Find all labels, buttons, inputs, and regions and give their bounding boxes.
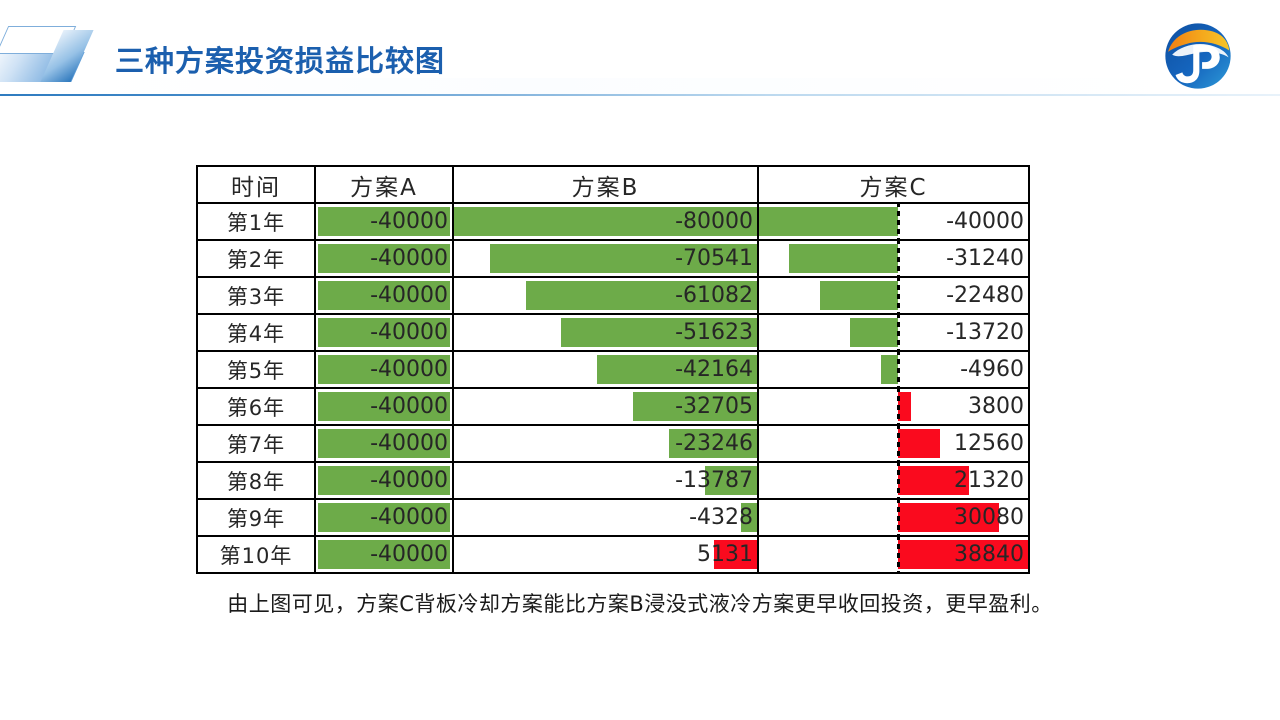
zero-axis-line bbox=[897, 350, 900, 389]
header-divider bbox=[0, 94, 1280, 96]
table-row: 第10年-40000513138840 bbox=[197, 536, 1029, 573]
cell-value-plan-c: -4960 bbox=[898, 352, 1028, 387]
cell-plan-b: -32705 bbox=[453, 388, 758, 425]
zero-axis-line bbox=[897, 239, 900, 278]
zero-axis-line bbox=[897, 535, 900, 574]
cell-value-plan-c: 12560 bbox=[898, 426, 1028, 461]
cell-value-plan-a: -40000 bbox=[316, 500, 452, 535]
slide-header: 三种方案投资损益比较图 bbox=[0, 0, 1280, 98]
cell-value-plan-b: -80000 bbox=[454, 204, 757, 239]
cell-value-plan-a: -40000 bbox=[316, 241, 452, 276]
column-header-time: 时间 bbox=[197, 166, 315, 203]
company-logo-icon bbox=[1164, 22, 1232, 90]
cell-plan-a: -40000 bbox=[315, 203, 453, 240]
cell-value-plan-c: -40000 bbox=[898, 204, 1028, 239]
zero-axis-line bbox=[897, 276, 900, 315]
cell-value-plan-b: -23246 bbox=[454, 426, 757, 461]
cell-value-plan-b: 5131 bbox=[454, 537, 757, 572]
cell-value-plan-a: -40000 bbox=[316, 537, 452, 572]
cell-plan-a: -40000 bbox=[315, 499, 453, 536]
cell-plan-c-value: -13720 bbox=[898, 314, 1029, 351]
table-row: 第3年-40000-61082-22480 bbox=[197, 277, 1029, 314]
cell-plan-a: -40000 bbox=[315, 240, 453, 277]
cell-plan-a: -40000 bbox=[315, 351, 453, 388]
row-label-time: 第10年 bbox=[197, 536, 315, 573]
cell-value-plan-a: -40000 bbox=[316, 426, 452, 461]
table-row: 第9年-40000-432830080 bbox=[197, 499, 1029, 536]
row-label-time: 第2年 bbox=[197, 240, 315, 277]
cell-value-plan-b: -70541 bbox=[454, 241, 757, 276]
cell-value-plan-b: -51623 bbox=[454, 315, 757, 350]
cell-plan-c-value: 12560 bbox=[898, 425, 1029, 462]
zero-axis-line bbox=[897, 387, 900, 426]
cell-plan-c-bar bbox=[758, 388, 898, 425]
cell-plan-c-value: -31240 bbox=[898, 240, 1029, 277]
cell-plan-b: -70541 bbox=[453, 240, 758, 277]
cell-plan-c-value: 3800 bbox=[898, 388, 1029, 425]
column-header-plan-a: 方案A bbox=[315, 166, 453, 203]
cell-value-plan-c: -22480 bbox=[898, 278, 1028, 313]
cell-value-plan-a: -40000 bbox=[316, 204, 452, 239]
cell-value-plan-c: -13720 bbox=[898, 315, 1028, 350]
cell-plan-c-value: -4960 bbox=[898, 351, 1029, 388]
cell-value-plan-c: 3800 bbox=[898, 389, 1028, 424]
row-label-time: 第9年 bbox=[197, 499, 315, 536]
table-header-row: 时间 方案A 方案B 方案C bbox=[197, 166, 1029, 203]
cell-plan-c-bar bbox=[758, 425, 898, 462]
cell-plan-a: -40000 bbox=[315, 536, 453, 573]
cell-plan-b: 5131 bbox=[453, 536, 758, 573]
cell-plan-c-bar bbox=[758, 499, 898, 536]
table-row: 第1年-40000-80000-40000 bbox=[197, 203, 1029, 240]
cell-plan-c-bar bbox=[758, 351, 898, 388]
table-row: 第5年-40000-42164-4960 bbox=[197, 351, 1029, 388]
table-row: 第8年-40000-1378721320 bbox=[197, 462, 1029, 499]
cell-value-plan-c: 21320 bbox=[898, 463, 1028, 498]
cell-plan-c-value: -40000 bbox=[898, 203, 1029, 240]
cell-plan-c-value: 38840 bbox=[898, 536, 1029, 573]
row-label-time: 第7年 bbox=[197, 425, 315, 462]
cell-plan-c-bar bbox=[758, 240, 898, 277]
cell-value-plan-b: -61082 bbox=[454, 278, 757, 313]
cell-value-plan-a: -40000 bbox=[316, 389, 452, 424]
cell-value-plan-b: -13787 bbox=[454, 463, 757, 498]
cell-value-plan-a: -40000 bbox=[316, 315, 452, 350]
cell-value-plan-a: -40000 bbox=[316, 463, 452, 498]
cell-plan-c-value: -22480 bbox=[898, 277, 1029, 314]
cell-value-plan-a: -40000 bbox=[316, 278, 452, 313]
row-label-time: 第4年 bbox=[197, 314, 315, 351]
cell-plan-c-bar bbox=[758, 536, 898, 573]
row-label-time: 第6年 bbox=[197, 388, 315, 425]
cell-value-plan-b: -32705 bbox=[454, 389, 757, 424]
row-label-time: 第1年 bbox=[197, 203, 315, 240]
cell-plan-a: -40000 bbox=[315, 314, 453, 351]
table-row: 第2年-40000-70541-31240 bbox=[197, 240, 1029, 277]
cell-plan-b: -4328 bbox=[453, 499, 758, 536]
cell-value-plan-c: 38840 bbox=[898, 537, 1028, 572]
column-header-plan-c: 方案C bbox=[758, 166, 1029, 203]
zero-axis-line bbox=[897, 202, 900, 241]
header-rule-fade bbox=[86, 78, 1196, 95]
data-bar-plan-c bbox=[789, 244, 898, 273]
cell-plan-b: -80000 bbox=[453, 203, 758, 240]
cell-plan-c-bar bbox=[758, 462, 898, 499]
cell-plan-c-bar bbox=[758, 277, 898, 314]
investment-comparison-table: 时间 方案A 方案B 方案C 第1年-40000-80000-40000第2年-… bbox=[196, 165, 1030, 574]
row-label-time: 第5年 bbox=[197, 351, 315, 388]
cell-plan-c-value: 21320 bbox=[898, 462, 1029, 499]
slide-caption: 由上图可见，方案C背板冷却方案能比方案B浸没式液冷方案更早收回投资，更早盈利。 bbox=[0, 588, 1280, 618]
cell-plan-b: -13787 bbox=[453, 462, 758, 499]
zero-axis-line bbox=[897, 498, 900, 537]
cell-value-plan-c: -31240 bbox=[898, 241, 1028, 276]
cell-plan-a: -40000 bbox=[315, 277, 453, 314]
row-label-time: 第8年 bbox=[197, 462, 315, 499]
table-row: 第6年-40000-327053800 bbox=[197, 388, 1029, 425]
cell-plan-b: -51623 bbox=[453, 314, 758, 351]
table-row: 第4年-40000-51623-13720 bbox=[197, 314, 1029, 351]
page-title: 三种方案投资损益比较图 bbox=[115, 38, 445, 80]
cell-plan-a: -40000 bbox=[315, 388, 453, 425]
data-bar-plan-c bbox=[850, 318, 898, 347]
zero-axis-line bbox=[897, 313, 900, 352]
cell-plan-c-bar bbox=[758, 314, 898, 351]
cell-value-plan-b: -42164 bbox=[454, 352, 757, 387]
cell-plan-c-bar bbox=[758, 203, 898, 240]
row-label-time: 第3年 bbox=[197, 277, 315, 314]
column-header-plan-b: 方案B bbox=[453, 166, 758, 203]
cell-plan-a: -40000 bbox=[315, 425, 453, 462]
data-bar-plan-c bbox=[759, 207, 898, 236]
cell-plan-c-value: 30080 bbox=[898, 499, 1029, 536]
cell-plan-b: -23246 bbox=[453, 425, 758, 462]
cell-plan-b: -42164 bbox=[453, 351, 758, 388]
cell-plan-b: -61082 bbox=[453, 277, 758, 314]
data-bar-plan-c bbox=[820, 281, 898, 310]
table-row: 第7年-40000-2324612560 bbox=[197, 425, 1029, 462]
cell-value-plan-c: 30080 bbox=[898, 500, 1028, 535]
zero-axis-line bbox=[897, 424, 900, 463]
cell-plan-a: -40000 bbox=[315, 462, 453, 499]
cell-value-plan-b: -4328 bbox=[454, 500, 757, 535]
zero-axis-line bbox=[897, 461, 900, 500]
cell-value-plan-a: -40000 bbox=[316, 352, 452, 387]
data-bar-plan-c bbox=[881, 355, 898, 384]
